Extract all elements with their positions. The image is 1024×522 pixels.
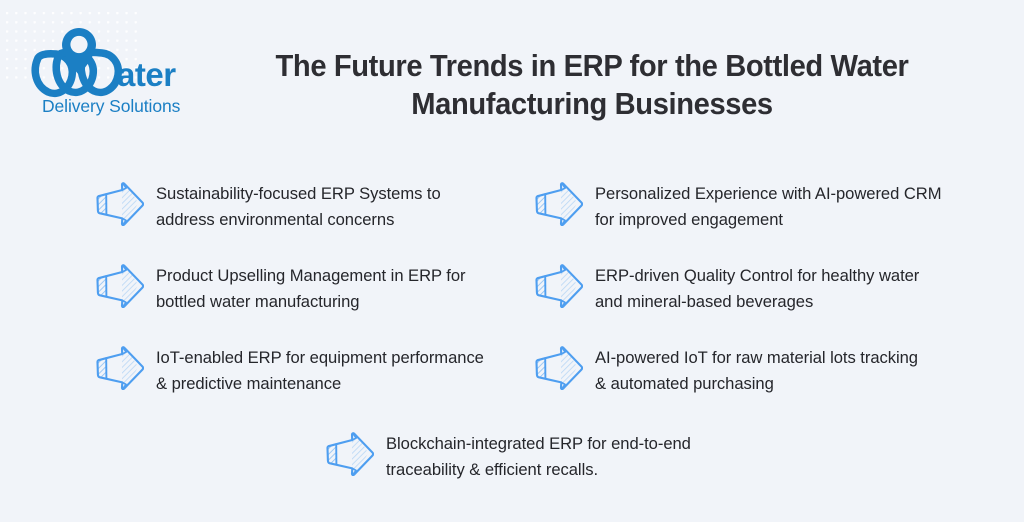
list-item-label: Product Upselling Management in ERP for … <box>156 262 492 314</box>
hand-drawn-right-arrow-icon <box>92 346 144 390</box>
hand-drawn-right-arrow-icon <box>531 182 583 226</box>
list-item: IoT-enabled ERP for equipment performanc… <box>92 344 492 396</box>
hand-drawn-right-arrow-icon <box>322 432 374 476</box>
hand-drawn-right-arrow-icon <box>531 264 583 308</box>
hand-drawn-right-arrow-icon <box>92 264 144 308</box>
hand-drawn-right-arrow-icon <box>531 346 583 390</box>
list-item-label: Blockchain-integrated ERP for end-to-end… <box>386 430 722 482</box>
infographic-canvas: ater Delivery Solutions The Future Trend… <box>0 0 1024 522</box>
brand-logo[interactable]: ater Delivery Solutions <box>22 24 182 119</box>
list-item-label: Sustainability-focused ERP Systems to ad… <box>156 180 492 232</box>
page-title: The Future Trends in ERP for the Bottled… <box>229 47 955 123</box>
logo-brand-text: ater <box>117 56 176 93</box>
list-item-label: AI-powered IoT for raw material lots tra… <box>595 344 931 396</box>
list-item: Personalized Experience with AI-powered … <box>531 180 951 232</box>
list-item: Product Upselling Management in ERP for … <box>92 262 492 314</box>
list-item-label: Personalized Experience with AI-powered … <box>595 180 951 232</box>
list-item: Sustainability-focused ERP Systems to ad… <box>92 180 492 232</box>
list-item-label: ERP-driven Quality Control for healthy w… <box>595 262 951 314</box>
list-item-label: IoT-enabled ERP for equipment performanc… <box>156 344 492 396</box>
list-item: AI-powered IoT for raw material lots tra… <box>531 344 931 396</box>
list-item: ERP-driven Quality Control for healthy w… <box>531 262 951 314</box>
logo-tagline-text: Delivery Solutions <box>42 96 181 116</box>
list-item: Blockchain-integrated ERP for end-to-end… <box>322 430 722 482</box>
hand-drawn-right-arrow-icon <box>92 182 144 226</box>
